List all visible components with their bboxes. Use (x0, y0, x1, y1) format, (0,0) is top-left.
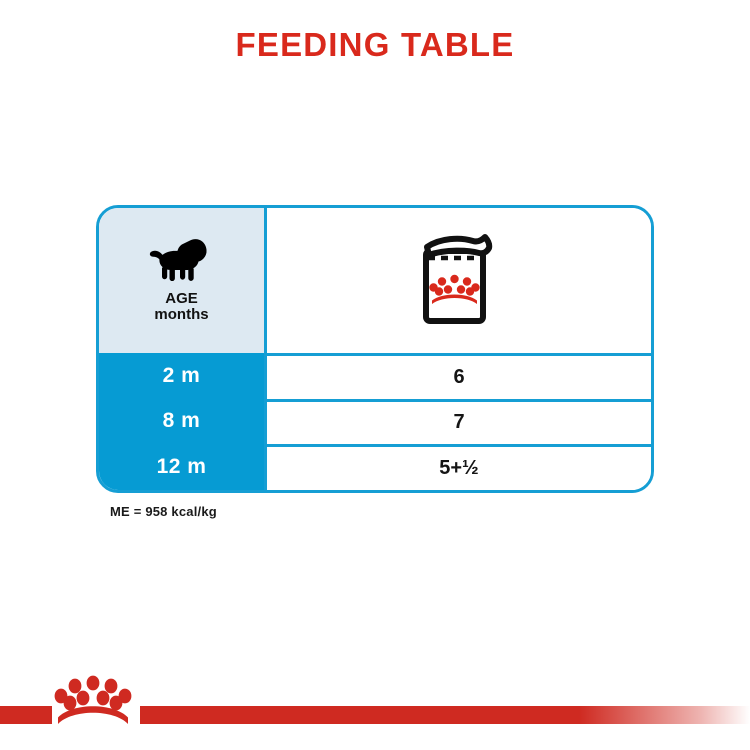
table-row: 8 m 7 (99, 399, 651, 445)
cell-age: 12 m (99, 444, 267, 490)
metabolisable-energy-footnote: ME = 958 kcal/kg (110, 504, 217, 519)
brand-bar-left-segment (0, 706, 52, 724)
header-cell-age: AGE months (99, 208, 267, 353)
cell-portions: 7 (267, 399, 651, 445)
wet-food-pouch-icon (416, 231, 502, 329)
table-row: 12 m 5+½ (99, 444, 651, 490)
table-grid: AGE months (99, 208, 651, 490)
puppy-icon (149, 237, 215, 291)
table-row: 2 m 6 (99, 353, 651, 399)
age-header-content: AGE months (149, 237, 215, 323)
age-header-label-line2: months (154, 307, 208, 323)
cell-age: 2 m (99, 353, 267, 399)
header-cell-portion (267, 208, 651, 353)
age-header-label-line1: AGE (165, 290, 198, 307)
age-header-label: AGE months (154, 291, 208, 323)
cell-portions: 5+½ (267, 444, 651, 490)
table-header-row: AGE months (99, 208, 651, 353)
cell-portions: 6 (267, 353, 651, 399)
cell-age: 8 m (99, 399, 267, 445)
brand-bar-right-segment (140, 706, 750, 724)
royal-canin-crown-icon (48, 672, 138, 734)
feeding-table: AGE months (96, 205, 654, 493)
page-title: FEEDING TABLE (0, 26, 750, 64)
